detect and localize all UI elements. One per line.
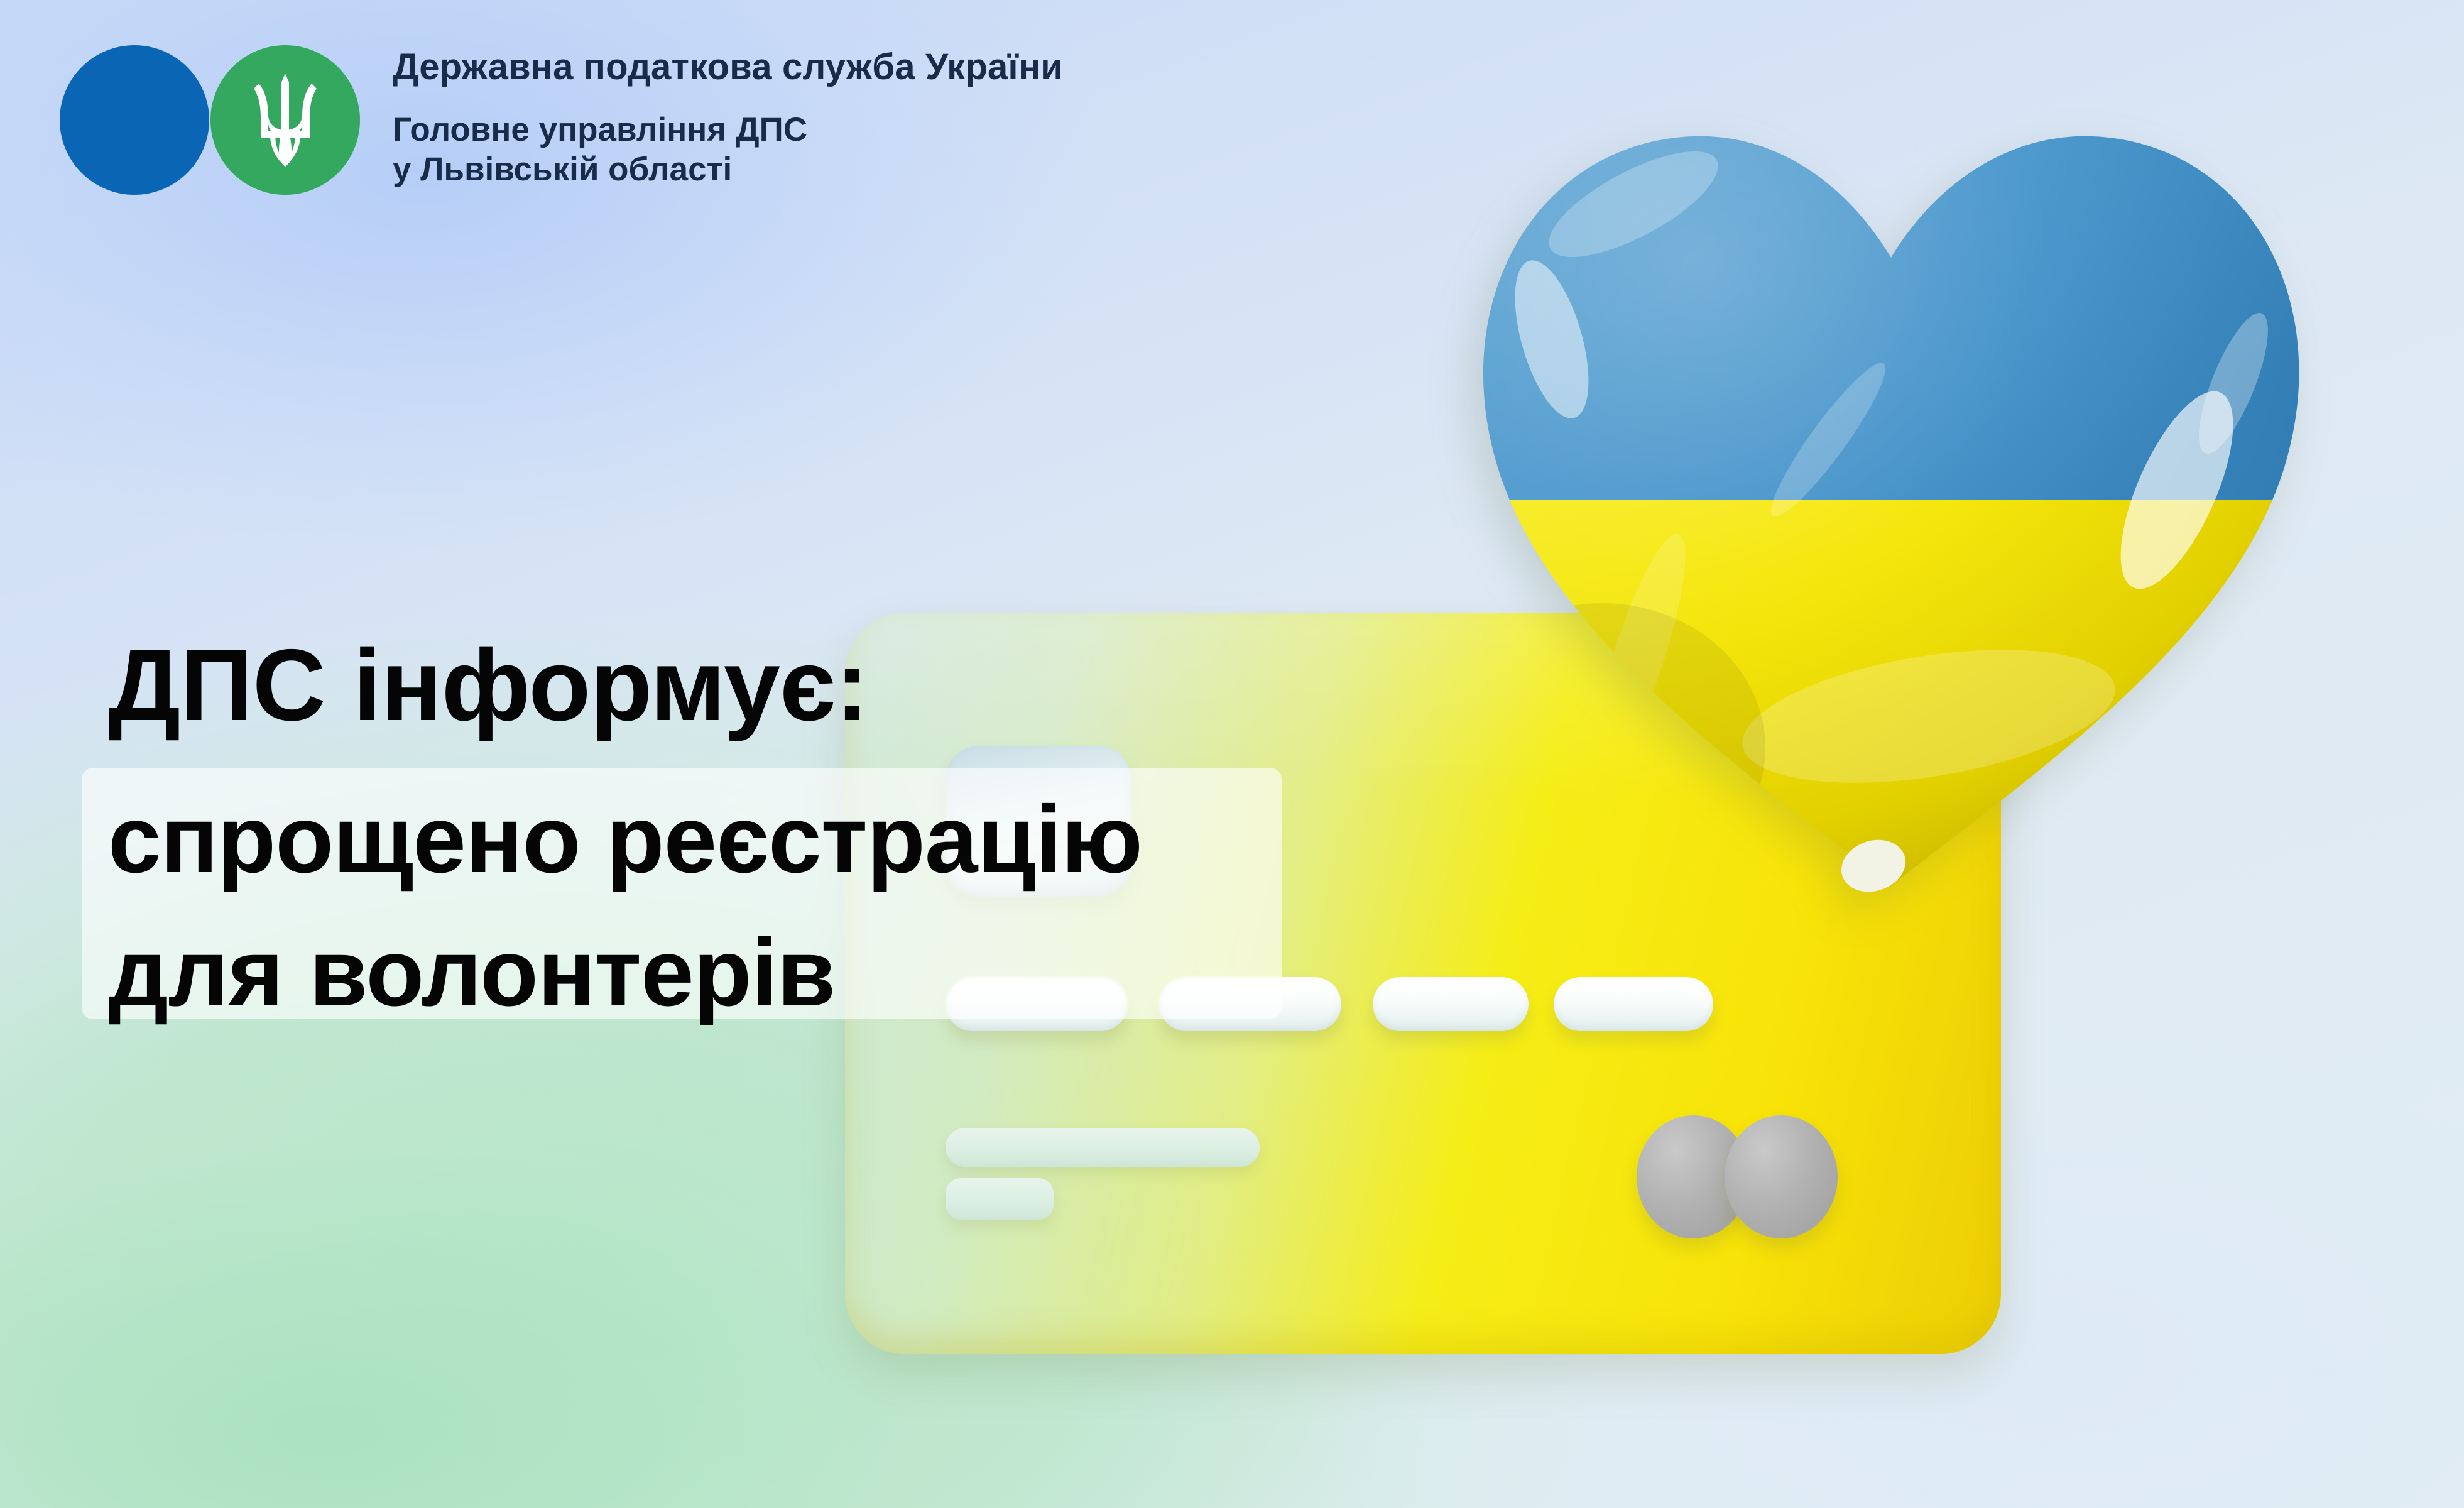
organization-name: Державна податкова служба України Головн… <box>393 49 1335 189</box>
heart-balloon-illustration <box>1451 88 2331 892</box>
org-line-1: Державна податкова служба України <box>393 49 1335 85</box>
agency-logo <box>60 45 360 196</box>
headline-line-3: для волонтерів <box>108 925 1427 1020</box>
ukrainian-trident-icon <box>248 72 323 168</box>
card-number-group-4 <box>1554 977 1713 1031</box>
card-expiry-bar <box>946 1178 1054 1220</box>
poster-canvas: Державна податкова служба України Головн… <box>0 0 2464 1508</box>
org-line-2: Головне управління ДПС <box>393 111 1335 150</box>
headline-block: ДПС інформує: спрощено реєстрацію для во… <box>108 635 1427 1020</box>
card-brand-circle-right <box>1725 1115 1838 1238</box>
headline-line-2: спрощено реєстрацію <box>108 792 1427 887</box>
logo-blue-circle <box>60 45 209 195</box>
ukraine-heart-icon <box>1451 88 2331 892</box>
headline-line-1: ДПС інформує: <box>108 635 1427 736</box>
card-holder-bar <box>946 1128 1260 1167</box>
logo-green-circle <box>210 45 360 195</box>
card-brand-circle-left <box>1637 1115 1750 1238</box>
org-line-3: у Львівській області <box>393 150 1335 190</box>
